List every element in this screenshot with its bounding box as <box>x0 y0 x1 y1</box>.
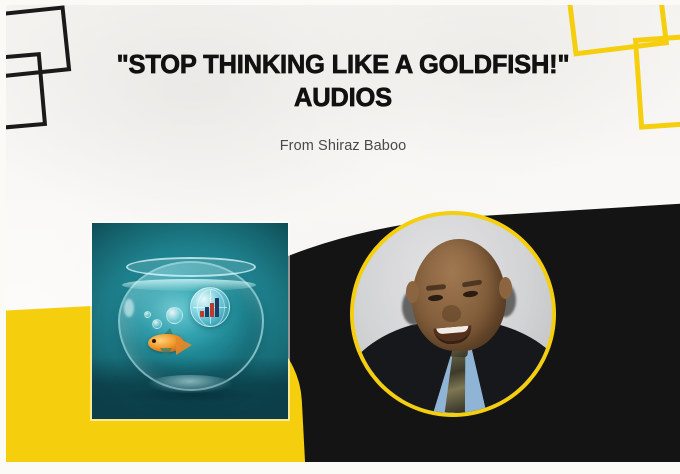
bar-chart-icon <box>200 297 219 317</box>
water-bubble-icon <box>144 311 151 318</box>
water-bubble-icon <box>166 307 183 324</box>
bar-2 <box>205 307 209 317</box>
page-title: "STOP THINKING LIKE A GOLDFISH!" AUDIOS <box>66 49 620 114</box>
goldfish-ventral-fin <box>160 348 172 358</box>
fishbowl-image <box>92 223 288 419</box>
goldfish-tail <box>176 337 192 355</box>
goldfish-icon <box>140 331 194 355</box>
goldfish-eye <box>152 339 156 343</box>
slide-canvas: "STOP THINKING LIKE A GOLDFISH!" AUDIOS … <box>0 0 680 474</box>
bottom-margin-strip <box>6 462 680 469</box>
speaker-avatar <box>350 211 556 417</box>
portrait-ear-left <box>406 281 419 303</box>
water-bubble-icon <box>152 319 162 329</box>
byline-text: From Shiraz Baboo <box>66 138 620 154</box>
globe-chart-bubble-icon <box>190 287 230 327</box>
portrait-ear-right <box>499 277 512 299</box>
bar-3 <box>210 303 214 317</box>
bar-1 <box>200 311 204 317</box>
bowl-highlight <box>124 299 134 317</box>
page-title-line-2: AUDIOS <box>66 82 620 115</box>
headline-block: "STOP THINKING LIKE A GOLDFISH!" AUDIOS … <box>6 49 680 154</box>
slide-content-area: "STOP THINKING LIKE A GOLDFISH!" AUDIOS … <box>6 5 680 469</box>
portrait-teeth <box>436 326 468 335</box>
bowl-base <box>148 375 232 393</box>
page-title-line-1: "STOP THINKING LIKE A GOLDFISH!" <box>66 49 620 82</box>
bowl-rim <box>126 257 256 277</box>
portrait-nose <box>442 305 461 322</box>
bowl-waterline <box>122 279 256 291</box>
bar-4 <box>215 298 219 317</box>
